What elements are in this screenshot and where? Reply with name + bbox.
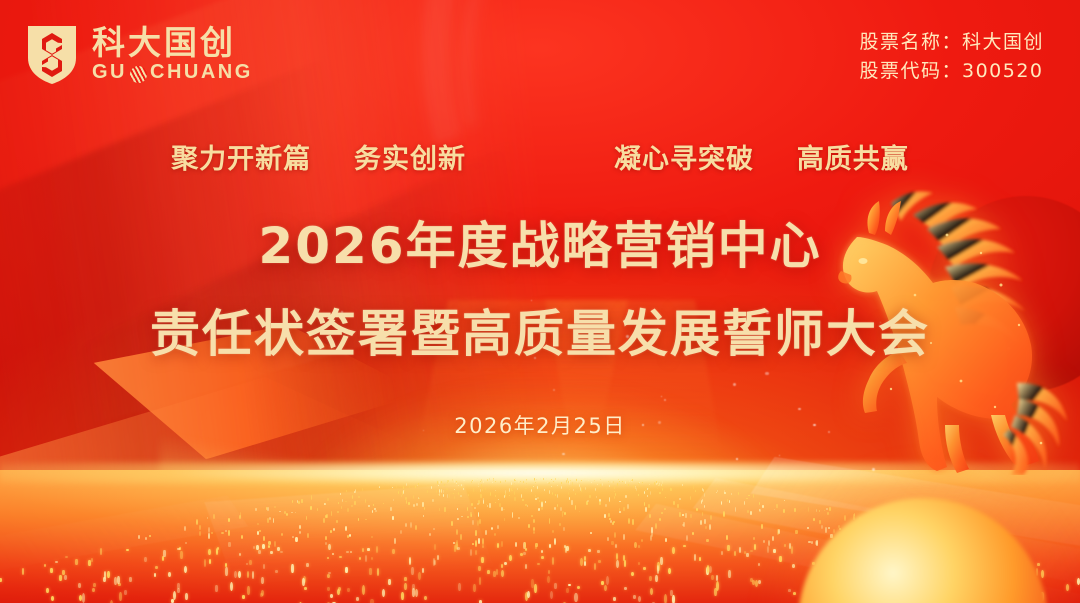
particle: [310, 506, 312, 510]
particle: [339, 556, 342, 559]
particle: [487, 570, 490, 575]
particle: [292, 500, 294, 503]
particle: [503, 509, 505, 511]
particle: [256, 545, 258, 550]
particle: [65, 556, 68, 558]
particle: [342, 499, 344, 503]
logo-english-name: GU CHUANG: [92, 61, 253, 84]
particle: [587, 478, 588, 479]
particle: [549, 490, 550, 493]
particle: [471, 481, 472, 483]
particle: [525, 548, 528, 551]
particle: [403, 486, 404, 489]
particle: [702, 512, 704, 516]
particle: [154, 573, 157, 578]
particle: [535, 498, 537, 500]
particle: [617, 483, 618, 486]
particle: [50, 568, 53, 573]
particle: [584, 478, 585, 479]
particle: [458, 485, 459, 487]
particle: [616, 560, 619, 567]
particle: [328, 544, 330, 550]
particle: [606, 487, 607, 490]
particle: [103, 577, 106, 582]
particle: [373, 504, 375, 506]
particle: [228, 530, 230, 537]
particle: [758, 563, 761, 566]
particle: [632, 519, 634, 525]
particle: [679, 498, 681, 500]
particle: [549, 482, 550, 484]
particle: [59, 575, 62, 581]
particle: [683, 545, 685, 547]
particle: [554, 583, 557, 589]
particle: [390, 507, 392, 511]
particle: [534, 584, 537, 594]
particle: [184, 566, 187, 573]
particle: [587, 500, 589, 502]
particle: [625, 495, 626, 498]
particle: [655, 523, 657, 529]
particle: [590, 532, 592, 534]
particle: [657, 488, 658, 489]
particle: [429, 533, 431, 536]
particle: [750, 550, 753, 552]
particle: [447, 480, 448, 483]
particle: [711, 575, 714, 581]
particle: [625, 481, 626, 483]
particle: [650, 491, 651, 495]
particle: [0, 578, 2, 582]
particle: [554, 507, 556, 511]
particle: [509, 495, 510, 496]
particle: [572, 482, 573, 484]
particle: [306, 516, 308, 520]
particle: [501, 570, 504, 577]
particle: [457, 518, 459, 520]
particle: [346, 490, 347, 492]
slogan-right-part2: 高质共赢: [797, 144, 909, 175]
particle: [522, 499, 524, 501]
particle: [600, 479, 601, 480]
particle: [352, 495, 353, 499]
particle: [327, 498, 329, 501]
particle: [606, 576, 609, 585]
particle: [171, 599, 174, 603]
particle: [371, 557, 374, 560]
particle: [660, 557, 663, 565]
particle: [576, 479, 577, 481]
particle: [576, 478, 577, 479]
particle: [525, 564, 528, 569]
particle: [485, 487, 486, 491]
particle: [532, 479, 533, 480]
particle: [138, 535, 140, 539]
sparkle: [562, 453, 565, 456]
particle: [520, 481, 521, 482]
particle: [588, 549, 591, 552]
particle: [495, 490, 496, 492]
particle: [690, 514, 692, 518]
particle: [483, 500, 485, 504]
particle: [604, 585, 607, 591]
particle: [281, 533, 283, 536]
particle: [333, 528, 335, 531]
particle: [379, 487, 380, 489]
particle: [625, 484, 626, 485]
particle: [557, 494, 558, 498]
particle: [75, 559, 78, 565]
particle: [483, 481, 484, 484]
particle: [422, 502, 424, 507]
particle: [482, 545, 484, 549]
particle: [275, 570, 278, 573]
particle: [608, 481, 609, 482]
particle: [548, 570, 551, 574]
particle: [401, 592, 404, 600]
particle: [699, 557, 702, 561]
particle: [472, 520, 474, 526]
particle: [738, 492, 739, 495]
particle: [673, 501, 675, 505]
particle: [695, 490, 696, 492]
particle: [704, 505, 706, 508]
slogan-left-part1: 聚力开新篇: [171, 144, 311, 175]
particle: [563, 527, 565, 531]
particle: [424, 507, 426, 510]
particle: [504, 518, 506, 521]
particle: [517, 488, 518, 491]
particle: [327, 557, 330, 560]
particle: [461, 516, 463, 518]
particle: [383, 503, 385, 505]
particle: [62, 570, 65, 575]
particle: [93, 583, 96, 588]
particle: [495, 502, 497, 504]
particle: [413, 504, 415, 507]
particle: [22, 568, 25, 575]
particle: [564, 512, 566, 515]
particle: [204, 559, 207, 567]
particle: [377, 568, 380, 576]
particle: [213, 514, 215, 519]
particle: [512, 512, 514, 518]
particle: [241, 535, 243, 539]
particle: [644, 491, 645, 494]
particle: [404, 583, 407, 591]
particle: [274, 541, 276, 547]
particle: [561, 482, 562, 485]
particle: [107, 571, 110, 579]
particle: [263, 536, 265, 541]
particle: [480, 481, 481, 482]
particle: [628, 484, 629, 486]
particle: [423, 515, 425, 517]
particle: [177, 588, 180, 592]
particle: [706, 539, 708, 543]
particle: [262, 544, 264, 549]
particle: [362, 488, 363, 491]
particle: [409, 486, 410, 488]
particle: [544, 489, 545, 492]
particle: [145, 537, 147, 540]
particle: [470, 512, 472, 517]
particle: [239, 553, 242, 556]
particle: [716, 488, 717, 489]
particle: [473, 584, 476, 593]
particle: [467, 507, 469, 511]
sparkle: [765, 372, 768, 375]
particle: [51, 596, 54, 601]
particle: [521, 494, 522, 498]
particle: [492, 482, 493, 483]
particle: [350, 551, 353, 553]
particle: [478, 486, 479, 487]
particle: [217, 547, 220, 550]
particle: [577, 586, 580, 589]
particle: [207, 517, 209, 519]
particle: [126, 549, 129, 551]
particle: [199, 525, 201, 531]
particle: [515, 480, 516, 481]
particle: [551, 486, 552, 487]
particle: [575, 493, 576, 496]
particle: [494, 533, 496, 536]
particle: [597, 484, 598, 486]
particle: [748, 495, 749, 497]
particle: [716, 575, 719, 581]
particle: [559, 523, 561, 526]
particle: [411, 567, 414, 575]
particle: [574, 593, 577, 602]
particle: [693, 487, 694, 489]
particle: [622, 481, 623, 482]
particle: [624, 587, 627, 590]
particle: [728, 570, 731, 578]
particle: [657, 565, 660, 574]
particle: [726, 535, 728, 540]
particle: [580, 487, 581, 491]
sparkle: [779, 455, 780, 456]
particle: [686, 535, 688, 542]
particle: [704, 493, 705, 497]
particle: [464, 480, 465, 482]
particle: [495, 481, 496, 482]
particle: [648, 504, 650, 508]
particle: [100, 548, 103, 555]
particle: [117, 576, 120, 583]
particle: [608, 513, 610, 516]
particle: [199, 531, 201, 536]
particle: [614, 532, 616, 538]
particle: [410, 522, 412, 528]
particle: [279, 511, 281, 513]
particle: [299, 525, 301, 530]
particle: [631, 572, 634, 576]
particle: [168, 572, 171, 577]
particle: [441, 481, 442, 483]
particle: [594, 563, 597, 570]
particle: [607, 537, 609, 542]
particle: [523, 552, 526, 555]
particle: [677, 504, 679, 508]
particle: [531, 489, 532, 492]
particle: [184, 526, 186, 531]
particle: [362, 548, 365, 552]
particle: [400, 530, 402, 534]
particle: [493, 478, 494, 479]
particle: [557, 485, 558, 486]
particle: [434, 544, 436, 550]
particle: [659, 518, 661, 520]
particle: [656, 481, 657, 483]
particle: [553, 481, 554, 483]
particle: [422, 568, 425, 573]
particle: [330, 594, 333, 598]
particle: [341, 506, 343, 509]
particle: [327, 587, 330, 591]
particle: [573, 489, 574, 491]
particle: [417, 485, 418, 486]
sparkle: [733, 383, 736, 386]
particle: [230, 582, 233, 592]
particle: [481, 484, 482, 487]
particle: [598, 560, 601, 563]
particle: [457, 508, 459, 510]
particle: [615, 493, 616, 496]
particle: [609, 518, 611, 520]
particle: [208, 533, 210, 540]
particle: [569, 497, 570, 500]
particle: [398, 491, 399, 494]
particle: [539, 500, 541, 502]
particle: [629, 480, 630, 482]
particle: [347, 508, 349, 512]
particle: [600, 484, 601, 487]
particle: [247, 571, 250, 579]
particle: [623, 507, 625, 511]
particle: [424, 596, 427, 600]
particle: [332, 553, 335, 556]
particle: [255, 508, 257, 511]
particle: [478, 538, 480, 544]
particle: [299, 531, 301, 534]
particle: [456, 529, 458, 535]
particle: [746, 498, 748, 499]
particle: [427, 490, 428, 492]
particle: [444, 507, 446, 511]
slogan-left: 聚力开新篇 务实创新: [171, 137, 466, 176]
particle: [331, 511, 333, 516]
particle: [648, 488, 649, 489]
particle: [701, 500, 703, 504]
particle: [541, 502, 543, 507]
particle: [514, 497, 515, 501]
particle: [477, 478, 478, 480]
particle: [783, 509, 785, 512]
particle: [645, 507, 647, 512]
particle: [225, 567, 228, 576]
particle: [784, 500, 786, 502]
particle: [520, 553, 523, 556]
particle: [478, 566, 481, 572]
particle: [228, 542, 230, 547]
particle: [418, 572, 421, 580]
particle: [354, 501, 356, 505]
particle: [453, 493, 454, 494]
particle: [475, 550, 478, 556]
particle: [690, 496, 691, 500]
particle: [473, 479, 474, 481]
particle: [709, 566, 712, 573]
particle: [444, 484, 445, 486]
particle: [365, 519, 367, 521]
logo-wordmark: 科大国创 GU CHUANG: [92, 26, 253, 84]
particle: [721, 551, 724, 555]
particle: [568, 492, 569, 495]
particle: [367, 548, 370, 552]
particle: [575, 505, 577, 510]
particle: [631, 481, 632, 482]
particle: [365, 499, 367, 503]
particle: [388, 579, 391, 585]
particle: [495, 495, 496, 497]
particle: [307, 533, 309, 538]
particle: [541, 556, 544, 559]
particle: [487, 505, 489, 508]
particle: [577, 480, 578, 482]
particle: [432, 499, 434, 502]
particle: [662, 484, 663, 486]
particle: [668, 568, 671, 575]
particle: [599, 501, 601, 504]
particle: [392, 487, 393, 489]
particle: [404, 577, 407, 581]
particle: [581, 480, 582, 481]
particle: [589, 495, 590, 498]
particle: [396, 485, 397, 488]
particle: [594, 480, 595, 481]
particle: [509, 555, 512, 561]
particle: [716, 492, 717, 493]
particle: [295, 512, 297, 514]
particle: [474, 507, 476, 509]
particle: [763, 540, 765, 543]
particle: [325, 536, 327, 541]
particle: [336, 520, 338, 524]
particle: [261, 590, 264, 596]
particle: [746, 553, 749, 557]
particle: [449, 494, 450, 497]
particle: [311, 495, 312, 499]
particle: [555, 494, 556, 496]
particle: [522, 479, 523, 481]
particle: [448, 480, 449, 482]
particle: [92, 588, 95, 592]
particle: [533, 531, 535, 534]
particle: [443, 490, 444, 493]
particle: [295, 537, 297, 542]
particle: [477, 520, 479, 526]
particle: [443, 494, 444, 497]
particle: [475, 540, 477, 547]
company-logo[interactable]: 科大国创 GU CHUANG: [26, 24, 253, 86]
particle: [345, 567, 348, 573]
particle: [284, 511, 286, 515]
particle: [64, 575, 67, 581]
particle: [274, 506, 276, 508]
particle: [454, 489, 455, 490]
